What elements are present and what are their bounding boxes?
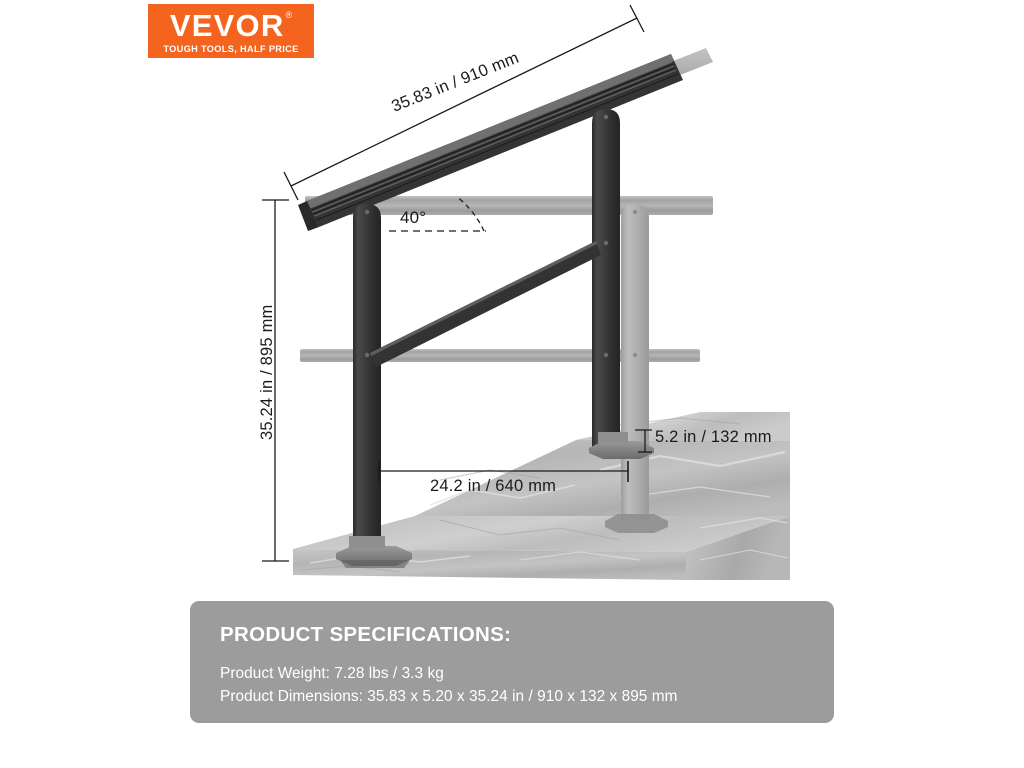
spec-line-weight: Product Weight: 7.28 lbs / 3.3 kg [220,665,834,683]
post-left [353,204,381,547]
post-right-bolt-mid [604,241,608,245]
base-plate-ghost-flange [605,514,668,533]
dim-tick-length-right [630,5,644,32]
ghost-post-bolt-top [633,210,637,214]
spec-line-dimensions: Product Dimensions: 35.83 x 5.20 x 35.24… [220,688,834,706]
dimension-label-height: 35.24 in / 895 mm [258,305,277,440]
base-plate-right-flange [589,441,654,459]
product-spec-page: VEVOR ® TOUGH TOOLS, HALF PRICE [0,0,1024,768]
product-specifications-panel: PRODUCT SPECIFICATIONS: Product Weight: … [190,601,834,723]
diagonal-brace [370,241,601,367]
diagonal-brace-highlight [370,241,597,356]
spec-panel-title: PRODUCT SPECIFICATIONS: [220,623,834,647]
base-plate-right-collar [598,432,628,443]
product-technical-drawing: 35.83 in / 910 mm 35.24 in / 895 mm 24.2… [0,0,1024,600]
post-right [592,109,620,452]
ghost-post-bolt-mid [633,353,637,357]
post-left-bolt-top [365,210,369,214]
post-right-bolt-low [604,353,608,357]
base-plate-left-shadow [340,560,410,568]
ghost-post-rear [621,204,649,520]
dimension-label-width: 24.2 in / 640 mm [430,477,556,496]
dimension-label-angle: 40° [400,208,426,228]
post-right-bolt-top [604,115,608,119]
dimension-label-depth: 5.2 in / 132 mm [655,428,772,447]
railing-illustration-svg [0,0,1024,600]
post-left-bolt-mid [365,353,369,357]
base-plate-left-collar [349,536,385,548]
dim-tick-length-left [284,172,298,200]
